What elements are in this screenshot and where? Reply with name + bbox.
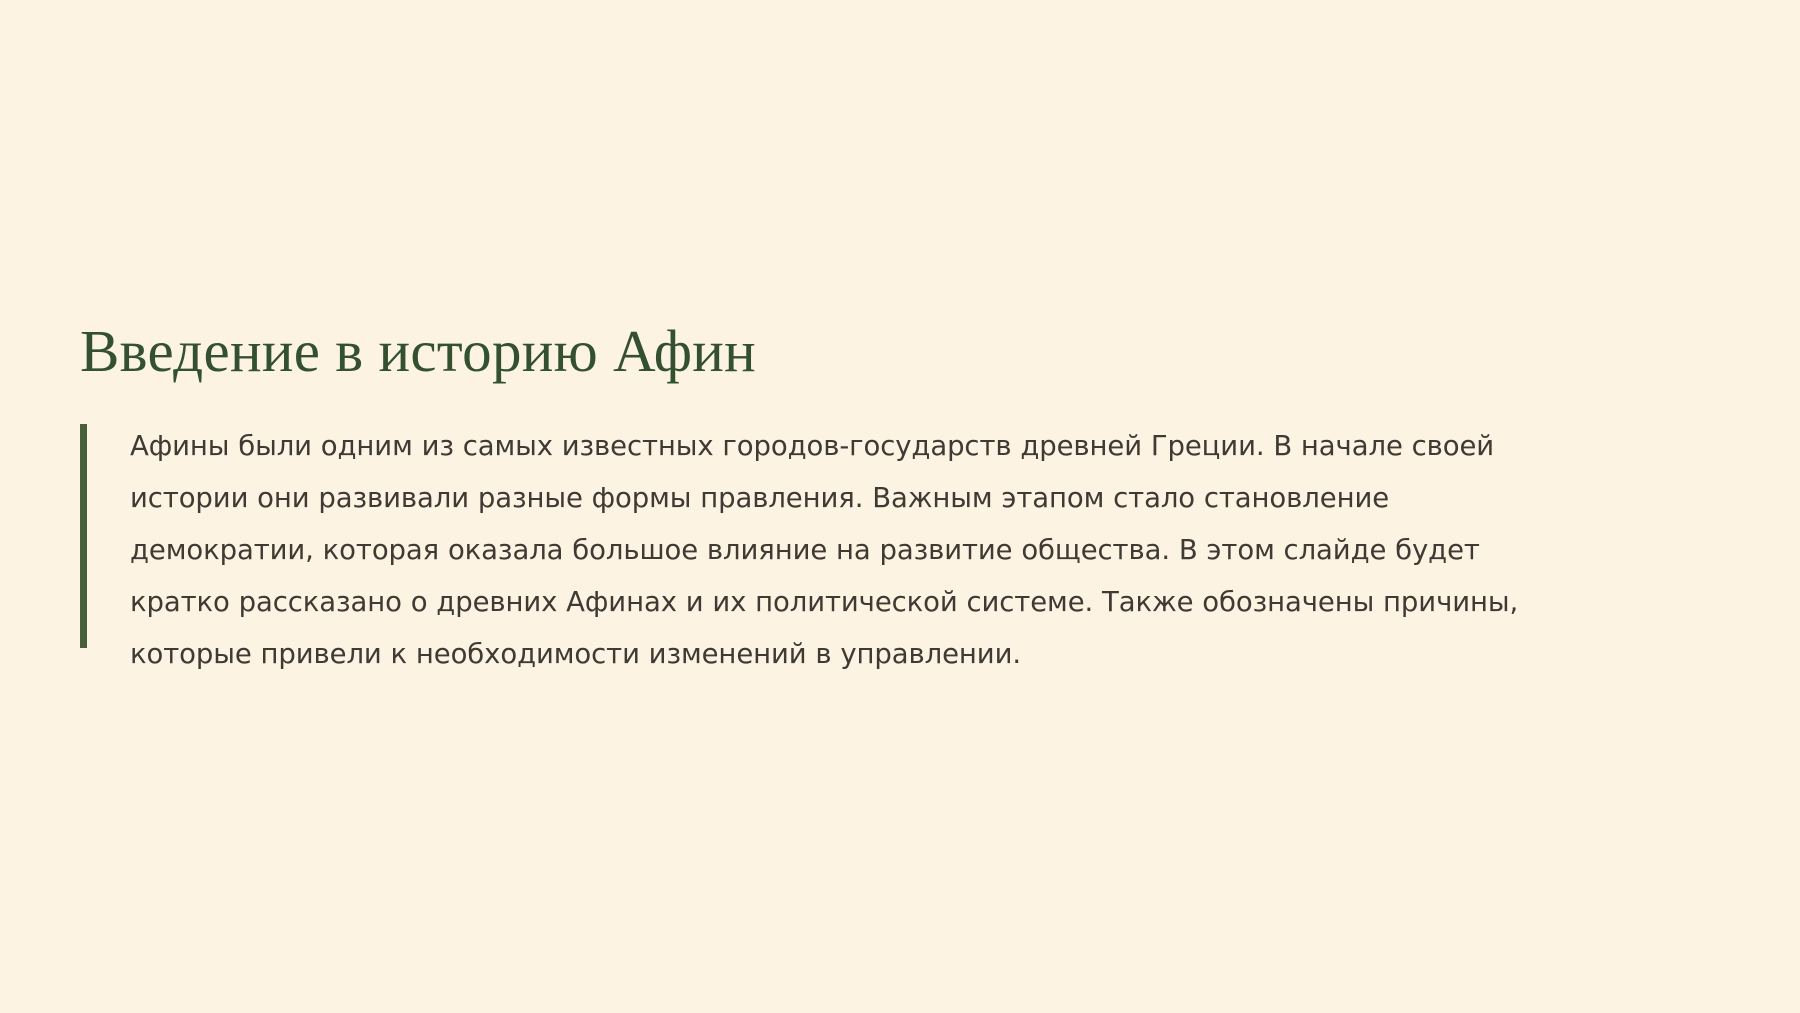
page-title: Введение в историю Афин [80, 318, 1640, 384]
accent-bar [80, 424, 87, 648]
slide-content: Введение в историю Афин Афины были одним… [80, 318, 1640, 680]
body-block: Афины были одним из самых известных горо… [80, 420, 1640, 680]
slide-canvas: Введение в историю Афин Афины были одним… [0, 0, 1800, 1013]
body-paragraph: Афины были одним из самых известных горо… [130, 420, 1560, 680]
